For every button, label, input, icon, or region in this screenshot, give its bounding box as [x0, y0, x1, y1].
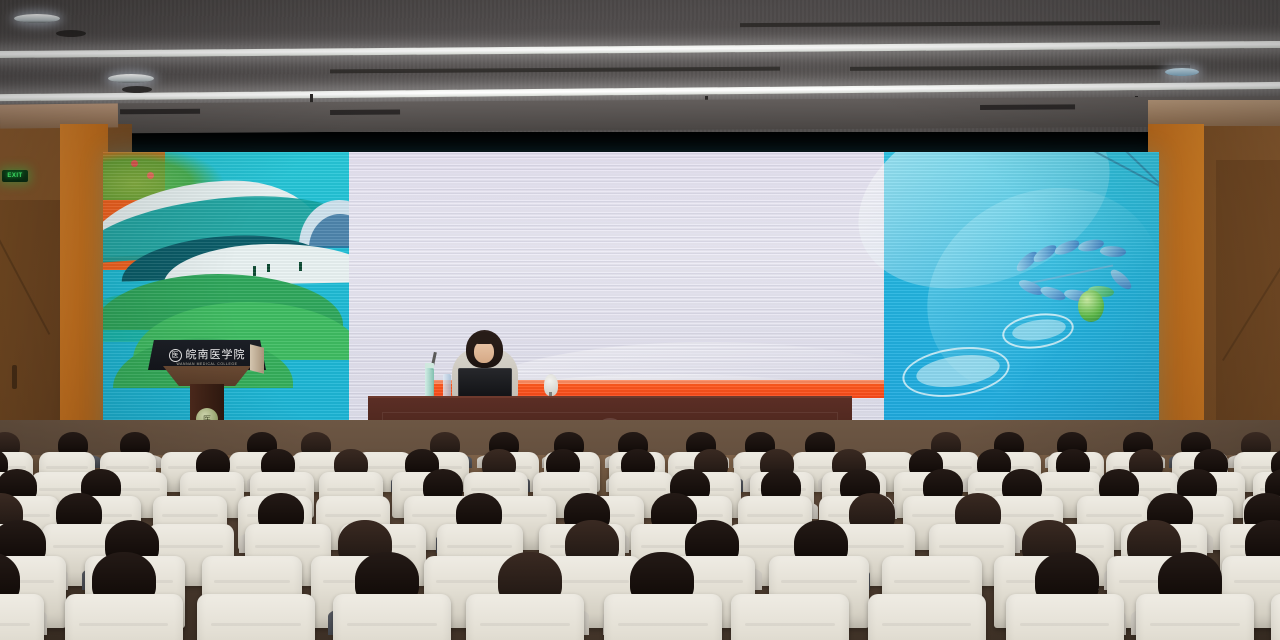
auditorium-seat [333, 594, 451, 640]
auditorium-seat [604, 594, 722, 640]
auditorium-seat [65, 594, 183, 640]
auditorium-seat [1006, 594, 1124, 640]
seated-audience [0, 0, 1280, 640]
auditorium-seat [0, 594, 44, 640]
auditorium-seat [1136, 594, 1254, 640]
auditorium-seat [1271, 594, 1280, 640]
auditorium-seat [466, 594, 584, 640]
auditorium-seat [197, 594, 315, 640]
auditorium-photo: EXIT [0, 0, 1280, 640]
auditorium-seat [731, 594, 849, 640]
auditorium-seat [868, 594, 986, 640]
